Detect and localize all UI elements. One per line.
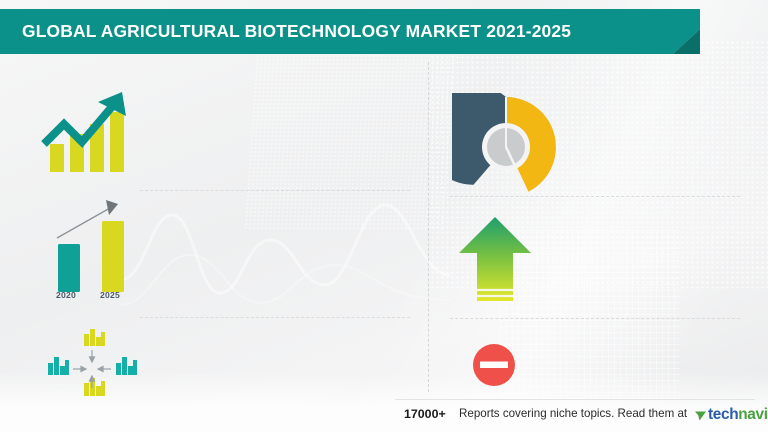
column-divider: [428, 62, 429, 392]
footer-bar: 17000+ Reports covering niche topics. Re…: [0, 399, 768, 432]
left-divider-1: [140, 190, 410, 191]
up-arrow-icon: [456, 213, 534, 309]
logo-navio-part: navio: [738, 406, 768, 423]
infographic-root: GLOBAL AGRICULTURAL BIOTECHNOLOGY MARKET…: [0, 0, 768, 432]
negative-sign-icon: [466, 337, 522, 393]
bar-label-2025: 2025: [100, 290, 120, 300]
technavio-wordmark: technavio®: [708, 406, 768, 424]
donut-chart-icon: [452, 93, 560, 201]
technavio-logo[interactable]: technavio®: [694, 406, 768, 424]
bar-label-2020: 2020: [56, 290, 76, 300]
bar-chart-uptrend-icon: [34, 82, 134, 182]
left-divider-2: [140, 317, 410, 318]
footer-text: Reports covering niche topics. Read them…: [459, 407, 687, 420]
background-wave-graphic: [120, 185, 450, 315]
header-banner: GLOBAL AGRICULTURAL BIOTECHNOLOGY MARKET…: [0, 9, 700, 54]
market-concentration-icon: [42, 326, 142, 400]
page-title: GLOBAL AGRICULTURAL BIOTECHNOLOGY MARKET…: [22, 9, 571, 54]
logo-tech-part: tech: [708, 406, 738, 423]
report-count: 17000+: [404, 407, 446, 421]
technavio-arrow-icon: [694, 409, 707, 422]
two-bars-growth-icon: 2020 2025: [44, 198, 144, 306]
right-divider-2: [450, 318, 740, 319]
